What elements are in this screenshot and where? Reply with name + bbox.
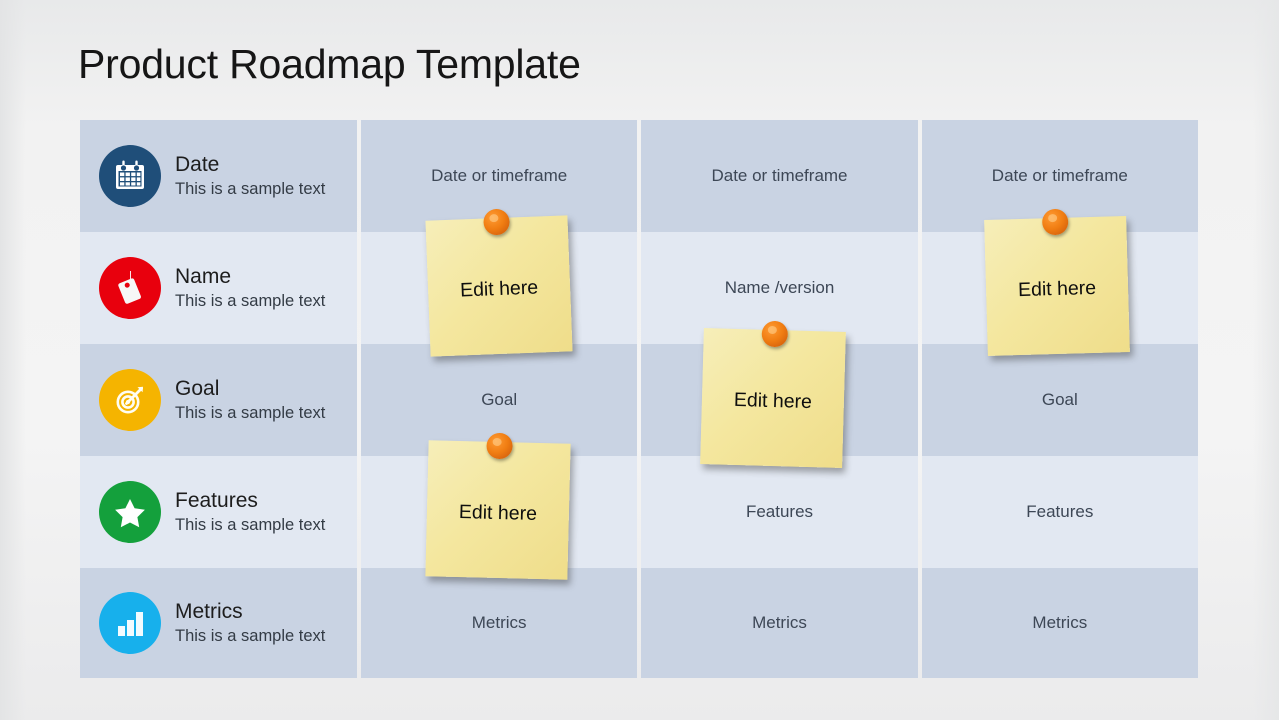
sticky-note-text: Edit here xyxy=(734,388,813,413)
cell-text: Name /version xyxy=(725,278,835,298)
sticky-note-text: Edit here xyxy=(460,276,539,302)
row-label-name[interactable]: Name This is a sample text xyxy=(80,232,357,344)
row-title-name: Name xyxy=(175,265,325,290)
table-row-date: Date This is a sample text Date or timef… xyxy=(80,120,1198,232)
row-title-goal: Goal xyxy=(175,377,325,402)
cell-features-col2[interactable]: Features xyxy=(641,456,917,568)
cell-text: Date or timeframe xyxy=(711,166,847,186)
row-subtitle-date: This is a sample text xyxy=(175,180,325,199)
row-label-goal[interactable]: Goal This is a sample text xyxy=(80,344,357,456)
cell-metrics-col1[interactable]: Metrics xyxy=(361,568,637,678)
star-icon xyxy=(99,481,161,543)
page-title: Product Roadmap Template xyxy=(78,41,581,88)
bar-chart-icon xyxy=(99,592,161,654)
row-title-features: Features xyxy=(175,489,325,514)
row-subtitle-goal: This is a sample text xyxy=(175,404,325,423)
sticky-note-4[interactable]: Edit here xyxy=(984,216,1130,356)
cell-text: Goal xyxy=(481,390,517,410)
row-label-metrics[interactable]: Metrics This is a sample text xyxy=(80,568,357,678)
table-row-metrics: Metrics This is a sample text Metrics Me… xyxy=(80,568,1198,678)
row-title-date: Date xyxy=(175,153,325,178)
pushpin-icon xyxy=(486,433,513,460)
table-row-goal: Goal This is a sample text Goal Goal xyxy=(80,344,1198,456)
sticky-note-text: Edit here xyxy=(1018,276,1097,301)
cell-text: Goal xyxy=(1042,390,1078,410)
target-icon xyxy=(99,369,161,431)
pushpin-icon xyxy=(761,321,788,348)
cell-goal-col3[interactable]: Goal xyxy=(922,344,1198,456)
row-subtitle-metrics: This is a sample text xyxy=(175,627,325,646)
calendar-icon xyxy=(99,145,161,207)
roadmap-table: Date This is a sample text Date or timef… xyxy=(80,120,1198,678)
row-subtitle-features: This is a sample text xyxy=(175,516,325,535)
cell-text: Date or timeframe xyxy=(431,166,567,186)
pushpin-icon xyxy=(1042,209,1069,236)
row-label-features[interactable]: Features This is a sample text xyxy=(80,456,357,568)
slide-canvas: Product Roadmap Template xyxy=(0,0,1279,720)
sticky-note-2[interactable]: Edit here xyxy=(700,328,846,468)
cell-text: Metrics xyxy=(472,613,527,633)
cell-metrics-col3[interactable]: Metrics xyxy=(922,568,1198,678)
row-subtitle-name: This is a sample text xyxy=(175,292,325,311)
cell-metrics-col2[interactable]: Metrics xyxy=(641,568,917,678)
sticky-note-text: Edit here xyxy=(459,501,538,526)
cell-text: Metrics xyxy=(1032,613,1087,633)
table-row-features: Features This is a sample text Features … xyxy=(80,456,1198,568)
cell-text: Features xyxy=(1026,502,1093,522)
row-label-date[interactable]: Date This is a sample text xyxy=(80,120,357,232)
pushpin-icon xyxy=(483,209,510,236)
sticky-note-3[interactable]: Edit here xyxy=(425,440,570,579)
cell-features-col3[interactable]: Features xyxy=(922,456,1198,568)
cell-date-col2[interactable]: Date or timeframe xyxy=(641,120,917,232)
sticky-note-1[interactable]: Edit here xyxy=(425,215,572,356)
cell-text: Features xyxy=(746,502,813,522)
row-title-metrics: Metrics xyxy=(175,600,325,625)
cell-text: Metrics xyxy=(752,613,807,633)
tag-icon xyxy=(99,257,161,319)
cell-text: Date or timeframe xyxy=(992,166,1128,186)
